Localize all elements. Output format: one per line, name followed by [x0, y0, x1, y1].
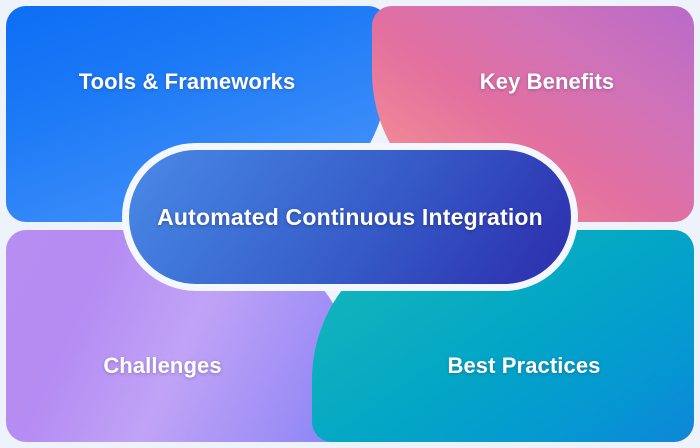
center-node-label: Automated Continuous Integration [157, 206, 543, 229]
quadrant-label-best-practices: Best Practices [447, 355, 600, 377]
quadrant-label-tools: Tools & Frameworks [79, 71, 296, 93]
quadrant-label-key-benefits: Key Benefits [480, 71, 614, 93]
quadrant-label-challenges: Challenges [103, 355, 221, 377]
center-node-automated-continuous-integration[interactable]: Automated Continuous Integration [122, 143, 578, 291]
diagram-canvas: Tools & Frameworks Key Benefits Challeng… [0, 0, 700, 448]
